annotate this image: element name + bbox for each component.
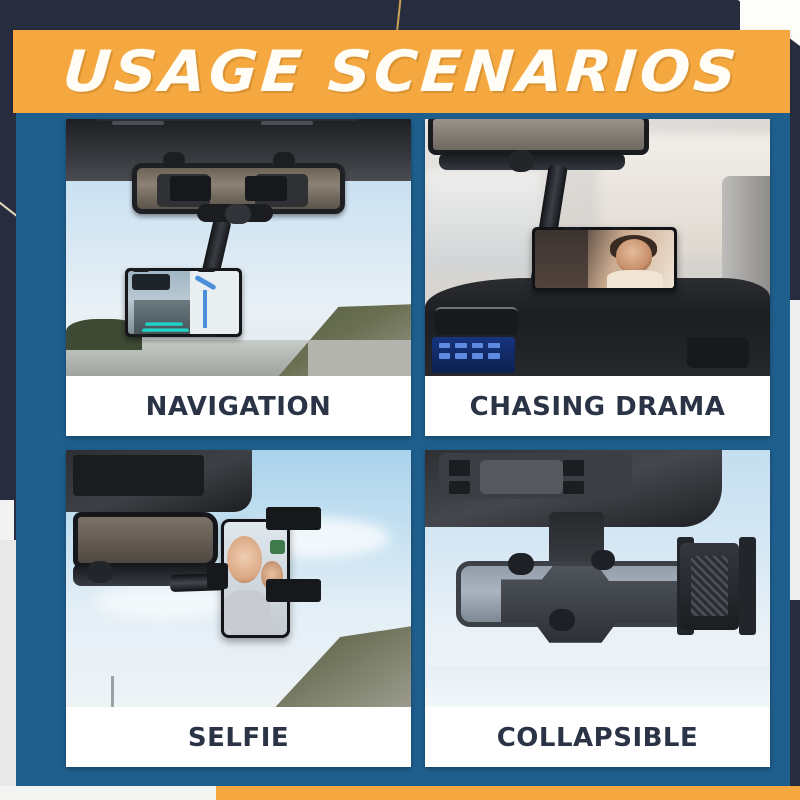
phone-screen-navigation xyxy=(128,271,239,334)
phone-grip-top-right xyxy=(610,227,627,230)
lower-haze xyxy=(425,666,770,707)
console-button-2 xyxy=(449,481,470,494)
phone-grip-bottom-left xyxy=(564,290,583,291)
bottom-left-accent xyxy=(0,786,216,800)
scenario-grid: NAVIGATION xyxy=(60,115,776,781)
retaining-wall xyxy=(308,340,412,376)
phone-grip-left xyxy=(207,563,228,589)
phone-grip-bottom-right xyxy=(610,290,629,291)
poster-root: USAGE SCENARIOS xyxy=(0,0,800,800)
screen-tile xyxy=(488,353,500,359)
caption-navigation: NAVIGATION xyxy=(66,376,411,436)
video-dark-region xyxy=(535,230,588,288)
headliner-button-right xyxy=(261,121,313,125)
nav-mini-map xyxy=(190,271,239,334)
phone-grip-top-left xyxy=(132,268,151,271)
phone-grip-top-left xyxy=(564,227,581,230)
content-panel: NAVIGATION xyxy=(16,113,790,787)
roadside-pole xyxy=(111,676,114,707)
caption-label: CHASING DRAMA xyxy=(470,392,726,422)
mirror-reflection-seat-right xyxy=(245,176,286,202)
console-button-1 xyxy=(449,460,470,475)
rearview-mirror xyxy=(428,119,649,155)
phone-grip-bottom-right xyxy=(197,334,216,337)
caption-collapsible: COLLAPSIBLE xyxy=(425,707,770,767)
mount-knob-left xyxy=(163,152,185,168)
photo-navigation xyxy=(66,119,411,376)
air-vent-left xyxy=(435,307,518,335)
screen-tile xyxy=(472,343,484,349)
screen-tile xyxy=(439,343,451,349)
page-title: USAGE SCENARIOS xyxy=(61,39,742,105)
caption-label: NAVIGATION xyxy=(146,392,332,422)
nav-route-line-1 xyxy=(194,275,216,291)
bottom-orange-bar xyxy=(216,786,800,800)
holder-knob-bottom xyxy=(549,609,575,631)
caption-chasing-drama: CHASING DRAMA xyxy=(425,376,770,436)
phone-grip-bottom-left xyxy=(132,334,151,337)
video-actress-body xyxy=(607,270,663,289)
nav-distance-hud xyxy=(132,274,170,290)
caption-label: COLLAPSIBLE xyxy=(497,723,699,753)
screen-tile xyxy=(439,353,451,359)
top-diagonal-accent-line xyxy=(396,0,402,30)
right-edge-accent xyxy=(790,300,800,600)
scenario-card-selfie[interactable]: SELFIE xyxy=(66,450,411,767)
selfie-background-foliage xyxy=(270,540,285,553)
screen-tile xyxy=(455,353,467,359)
screen-tile xyxy=(488,343,500,349)
air-vent-right xyxy=(687,337,749,368)
console-light-lens xyxy=(480,460,563,493)
phone-grip-top xyxy=(266,507,321,530)
photo-collapsible xyxy=(425,450,770,707)
scenario-card-collapsible[interactable]: COLLAPSIBLE xyxy=(425,450,770,767)
smartphone-video xyxy=(532,227,677,291)
phone-grip-bottom xyxy=(266,579,321,602)
caption-label: SELFIE xyxy=(188,723,289,753)
screen-tile xyxy=(455,343,467,349)
mirror-reflection-seat-left xyxy=(170,176,211,202)
phone-screen-video xyxy=(535,230,674,288)
photo-selfie xyxy=(66,450,411,707)
holder-knob-right xyxy=(591,550,615,570)
photo-chasing-drama xyxy=(425,119,770,376)
nav-arrow-2 xyxy=(141,328,189,332)
mount-knob xyxy=(87,561,113,583)
screen-tile xyxy=(472,353,484,359)
infotainment-screen xyxy=(432,337,515,373)
clamp-arm-right xyxy=(739,537,756,635)
holder-knob-left xyxy=(508,553,534,575)
window-blur-left xyxy=(425,170,542,273)
console-button-3 xyxy=(563,460,584,475)
mount-knob-right xyxy=(273,152,295,168)
phone-grip-top-right xyxy=(197,268,216,271)
mount-knob xyxy=(508,150,534,172)
title-banner: USAGE SCENARIOS xyxy=(13,30,790,113)
caption-selfie: SELFIE xyxy=(66,707,411,767)
console-button-4 xyxy=(563,481,584,494)
smartphone-navigation xyxy=(125,268,242,337)
lower-left-edge-accent xyxy=(0,540,16,800)
video-actress-face xyxy=(616,239,652,273)
sun-visor xyxy=(73,455,204,496)
phone-clamp xyxy=(680,543,739,630)
selfie-person1-face xyxy=(227,536,262,583)
scenario-card-navigation[interactable]: NAVIGATION xyxy=(66,119,411,436)
rearview-mirror xyxy=(73,512,218,569)
scenario-card-chasing-drama[interactable]: CHASING DRAMA xyxy=(425,119,770,436)
selfie-person1-body xyxy=(224,590,271,635)
mount-hub-pivot xyxy=(225,204,251,224)
clamp-grip-pad xyxy=(691,556,729,615)
nav-route-line-2 xyxy=(203,290,207,328)
headliner-button-left xyxy=(112,121,164,125)
